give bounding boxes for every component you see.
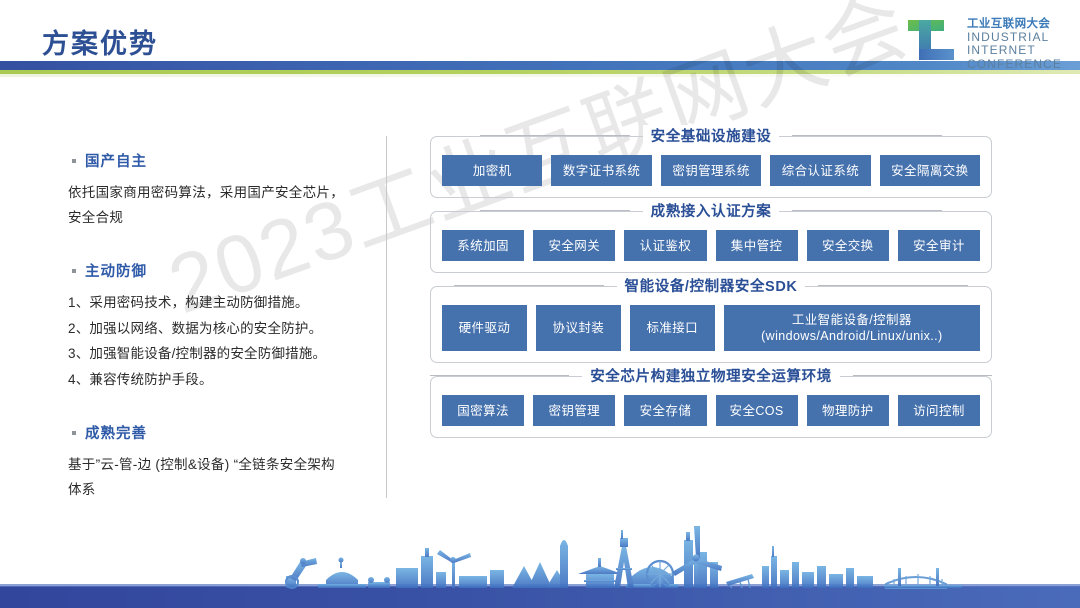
section-chip-container: 硬件驱动 协议封装 标准接口 工业智能设备/控制器 (windows/Andro…	[430, 286, 992, 363]
advantage-line: 依托国家商用密码算法，采用国产安全芯片，	[68, 180, 373, 205]
advantage-heading-row: 主动防御	[68, 260, 373, 281]
section-device-sdk: 智能设备/控制器安全SDK 硬件驱动 协议封装 标准接口 工业智能设备/控制器 …	[430, 286, 992, 363]
section-security-infrastructure: 安全基础设施建设 加密机 数字证书系统 密钥管理系统 综合认证系统 安全隔离交换	[430, 136, 992, 198]
bullet-icon	[72, 159, 76, 163]
advantage-heading-row: 成熟完善	[68, 422, 373, 443]
logo-text-block: 工业互联网大会 INDUSTRIAL INTERNET CONFERENCE	[967, 17, 1062, 72]
page-title: 方案优势	[42, 22, 158, 61]
advantage-heading: 成熟完善	[85, 422, 147, 443]
chip-item[interactable]: 访问控制	[898, 395, 980, 426]
logo-cn-name: 工业互联网大会	[967, 17, 1062, 31]
architecture-panels: 安全基础设施建设 加密机 数字证书系统 密钥管理系统 综合认证系统 安全隔离交换…	[430, 136, 992, 451]
chip-item[interactable]: 国密算法	[442, 395, 524, 426]
slide-root: 方案优势	[0, 0, 1080, 608]
advantage-block-chengshu: 成熟完善 基于”云-管-边 (控制&设备) “全链条安全架构 体系	[68, 422, 373, 502]
chip-line-2: (windows/Android/Linux/unix..)	[761, 328, 943, 344]
advantage-line: 体系	[68, 477, 373, 502]
advantage-line: 基于”云-管-边 (控制&设备) “全链条安全架构	[68, 452, 373, 477]
logo-t-mark	[904, 16, 958, 72]
chip-item[interactable]: 数字证书系统	[551, 155, 651, 186]
logo-en-line2: INTERNET	[967, 44, 1062, 58]
footer-skyline-graphic	[0, 500, 1080, 608]
advantage-block-guochan: 国产自主 依托国家商用密码算法，采用国产安全芯片， 安全合规	[68, 150, 373, 230]
chip-item[interactable]: 认证鉴权	[624, 230, 706, 261]
chip-item[interactable]: 物理防护	[807, 395, 889, 426]
advantage-heading: 主动防御	[85, 260, 147, 281]
chip-item[interactable]: 安全审计	[898, 230, 980, 261]
advantage-heading: 国产自主	[85, 150, 147, 171]
chip-item[interactable]: 系统加固	[442, 230, 524, 261]
section-chip-container: 加密机 数字证书系统 密钥管理系统 综合认证系统 安全隔离交换	[430, 136, 992, 198]
advantage-line: 3、加强智能设备/控制器的安全防御措施。	[68, 341, 373, 367]
advantage-line: 1、采用密码技术，构建主动防御措施。	[68, 290, 373, 316]
advantage-line: 安全合规	[68, 205, 373, 230]
logo-en-line1: INDUSTRIAL	[967, 31, 1062, 45]
chip-item[interactable]: 密钥管理系统	[661, 155, 761, 186]
chip-item[interactable]: 硬件驱动	[442, 305, 527, 351]
advantage-line: 4、兼容传统防护手段。	[68, 367, 373, 393]
chip-item[interactable]: 标准接口	[630, 305, 715, 351]
section-access-authentication: 成熟接入认证方案 系统加固 安全网关 认证鉴权 集中管控 安全交换 安全审计	[430, 211, 992, 273]
chip-item[interactable]: 集中管控	[716, 230, 798, 261]
advantage-line: 2、加强以网络、数据为核心的安全防护。	[68, 316, 373, 342]
advantage-block-zhudong: 主动防御 1、采用密码技术，构建主动防御措施。 2、加强以网络、数据为核心的安全…	[68, 260, 373, 392]
section-chip-container: 国密算法 密钥管理 安全存储 安全COS 物理防护 访问控制	[430, 376, 992, 438]
chip-item[interactable]: 安全存储	[624, 395, 706, 426]
chip-item[interactable]: 协议封装	[536, 305, 621, 351]
slide-header: 方案优势	[0, 0, 1080, 94]
logo-en-line3: CONFERENCE	[967, 58, 1062, 72]
bullet-icon	[72, 269, 76, 273]
chip-item[interactable]: 安全隔离交换	[880, 155, 980, 186]
section-chip-container: 系统加固 安全网关 认证鉴权 集中管控 安全交换 安全审计	[430, 211, 992, 273]
chip-item[interactable]: 密钥管理	[533, 395, 615, 426]
chip-item-platform[interactable]: 工业智能设备/控制器 (windows/Android/Linux/unix..…	[724, 305, 980, 351]
advantages-list: 国产自主 依托国家商用密码算法，采用国产安全芯片， 安全合规 主动防御 1、采用…	[68, 150, 373, 516]
chip-item[interactable]: 安全网关	[533, 230, 615, 261]
chip-item[interactable]: 安全交换	[807, 230, 889, 261]
chip-item[interactable]: 综合认证系统	[770, 155, 870, 186]
header-rule-fade	[0, 74, 1080, 77]
conference-logo: 工业互联网大会 INDUSTRIAL INTERNET CONFERENCE	[904, 16, 1062, 72]
bullet-icon	[72, 431, 76, 435]
column-divider	[386, 136, 387, 498]
advantage-heading-row: 国产自主	[68, 150, 373, 171]
chip-item[interactable]: 安全COS	[716, 395, 798, 426]
chip-line-1: 工业智能设备/控制器	[761, 312, 943, 328]
chip-item[interactable]: 加密机	[442, 155, 542, 186]
section-security-chip: 安全芯片构建独立物理安全运算环境 国密算法 密钥管理 安全存储 安全COS 物理…	[430, 376, 992, 438]
